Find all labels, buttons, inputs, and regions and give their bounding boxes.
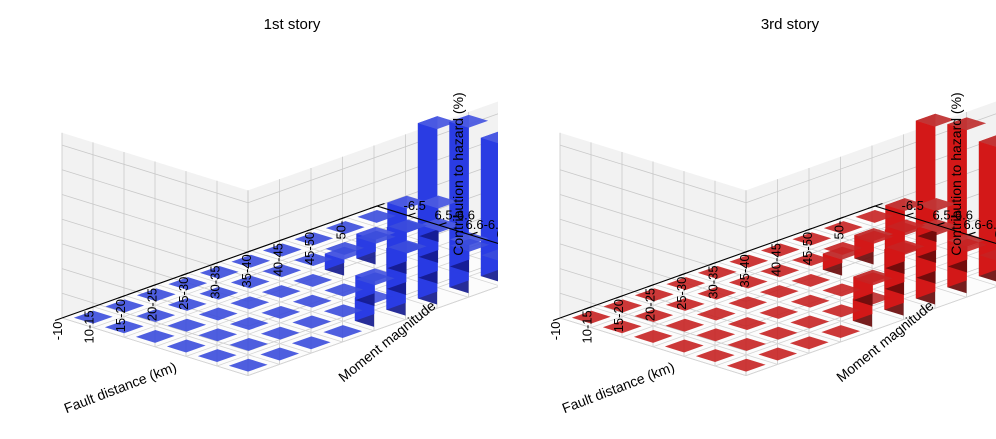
x-tick-label: 25-30 (176, 277, 191, 310)
x-tick-label: 30-35 (207, 265, 222, 298)
x-tick-label: 10-15 (579, 310, 594, 343)
x-tick-label: 40-45 (270, 243, 285, 276)
y-tick-label: 6.6-6.7 (466, 217, 499, 232)
x-tick-label: 15-20 (113, 299, 128, 332)
x-tick-label: 25-30 (674, 277, 689, 310)
x-tick-label: -10 (50, 321, 65, 340)
x-tick-label: -10 (548, 321, 563, 340)
panel-1st-story: -1010-1515-2020-2525-3030-3535-4040-4545… (0, 0, 498, 439)
z-axis-title: Contribution to hazard (%) (450, 92, 466, 255)
x-tick-label: 10-15 (81, 310, 96, 343)
panel-3rd-story: -1010-1515-2020-2525-3030-3535-4040-4545… (498, 0, 996, 439)
y-tick-label: -6.5 (902, 198, 924, 213)
x-axis-title: Fault distance (km) (560, 359, 677, 417)
x-tick-label: 45-50 (800, 232, 815, 265)
z-axis-title: Contribution to hazard (%) (948, 92, 964, 255)
y-tick-label: 6.6-6.7 (964, 217, 996, 232)
x-tick-label: 45-50 (302, 232, 317, 265)
dual-3d-bar-figure: -1010-1515-2020-2525-3030-3535-4040-4545… (0, 0, 996, 439)
x-tick-label: 20-25 (642, 288, 657, 321)
x-tick-label: 50- (333, 221, 348, 240)
bar (979, 135, 996, 283)
x-tick-label: 30-35 (705, 265, 720, 298)
x-tick-label: 40-45 (768, 243, 783, 276)
x-axis-title: Fault distance (km) (62, 359, 179, 417)
y-tick-label: -6.5 (404, 198, 426, 213)
panel-title: 3rd story (761, 16, 820, 33)
x-tick-label: 20-25 (144, 288, 159, 321)
x-tick-label: 35-40 (737, 254, 752, 287)
x-tick-label: 35-40 (239, 254, 254, 287)
x-tick-label: 50- (831, 221, 846, 240)
x-tick-label: 15-20 (611, 299, 626, 332)
panel-title: 1st story (264, 16, 321, 33)
